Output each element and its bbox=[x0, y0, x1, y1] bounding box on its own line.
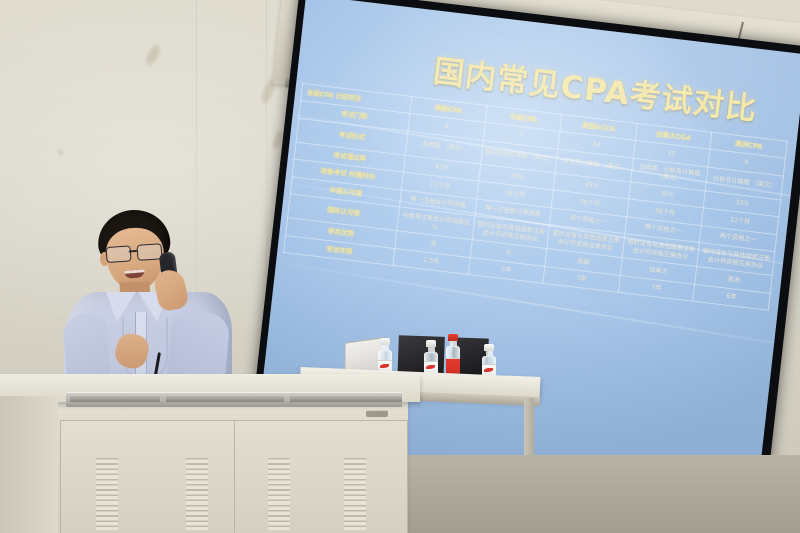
cabinet-door-left[interactable] bbox=[60, 420, 236, 533]
tray-rail bbox=[70, 396, 160, 402]
cabinet-vent bbox=[344, 458, 366, 530]
cabinet-lock-icon bbox=[366, 410, 388, 417]
bottle-logo-icon bbox=[426, 365, 435, 369]
cabinet-vent bbox=[186, 458, 208, 530]
glasses-bridge bbox=[129, 250, 137, 252]
cabinet-vent bbox=[96, 458, 118, 530]
bottle-logo-icon bbox=[380, 364, 389, 368]
lectern-side-panel bbox=[0, 396, 58, 533]
wall-mark bbox=[58, 150, 63, 155]
cabinet-vent bbox=[268, 458, 290, 530]
tray-rail bbox=[290, 396, 402, 402]
cabinet-door-right[interactable] bbox=[234, 420, 408, 533]
glasses-icon bbox=[106, 243, 167, 262]
tray-rail bbox=[166, 396, 284, 402]
photo-scene: 国内常见CPA考试对比 各国CPA 比较项目 美国CPA 中国CPA 英国ACC… bbox=[0, 0, 800, 533]
floor bbox=[408, 455, 800, 533]
glasses-lens-left bbox=[106, 245, 132, 263]
bottle-logo-icon bbox=[484, 368, 493, 372]
